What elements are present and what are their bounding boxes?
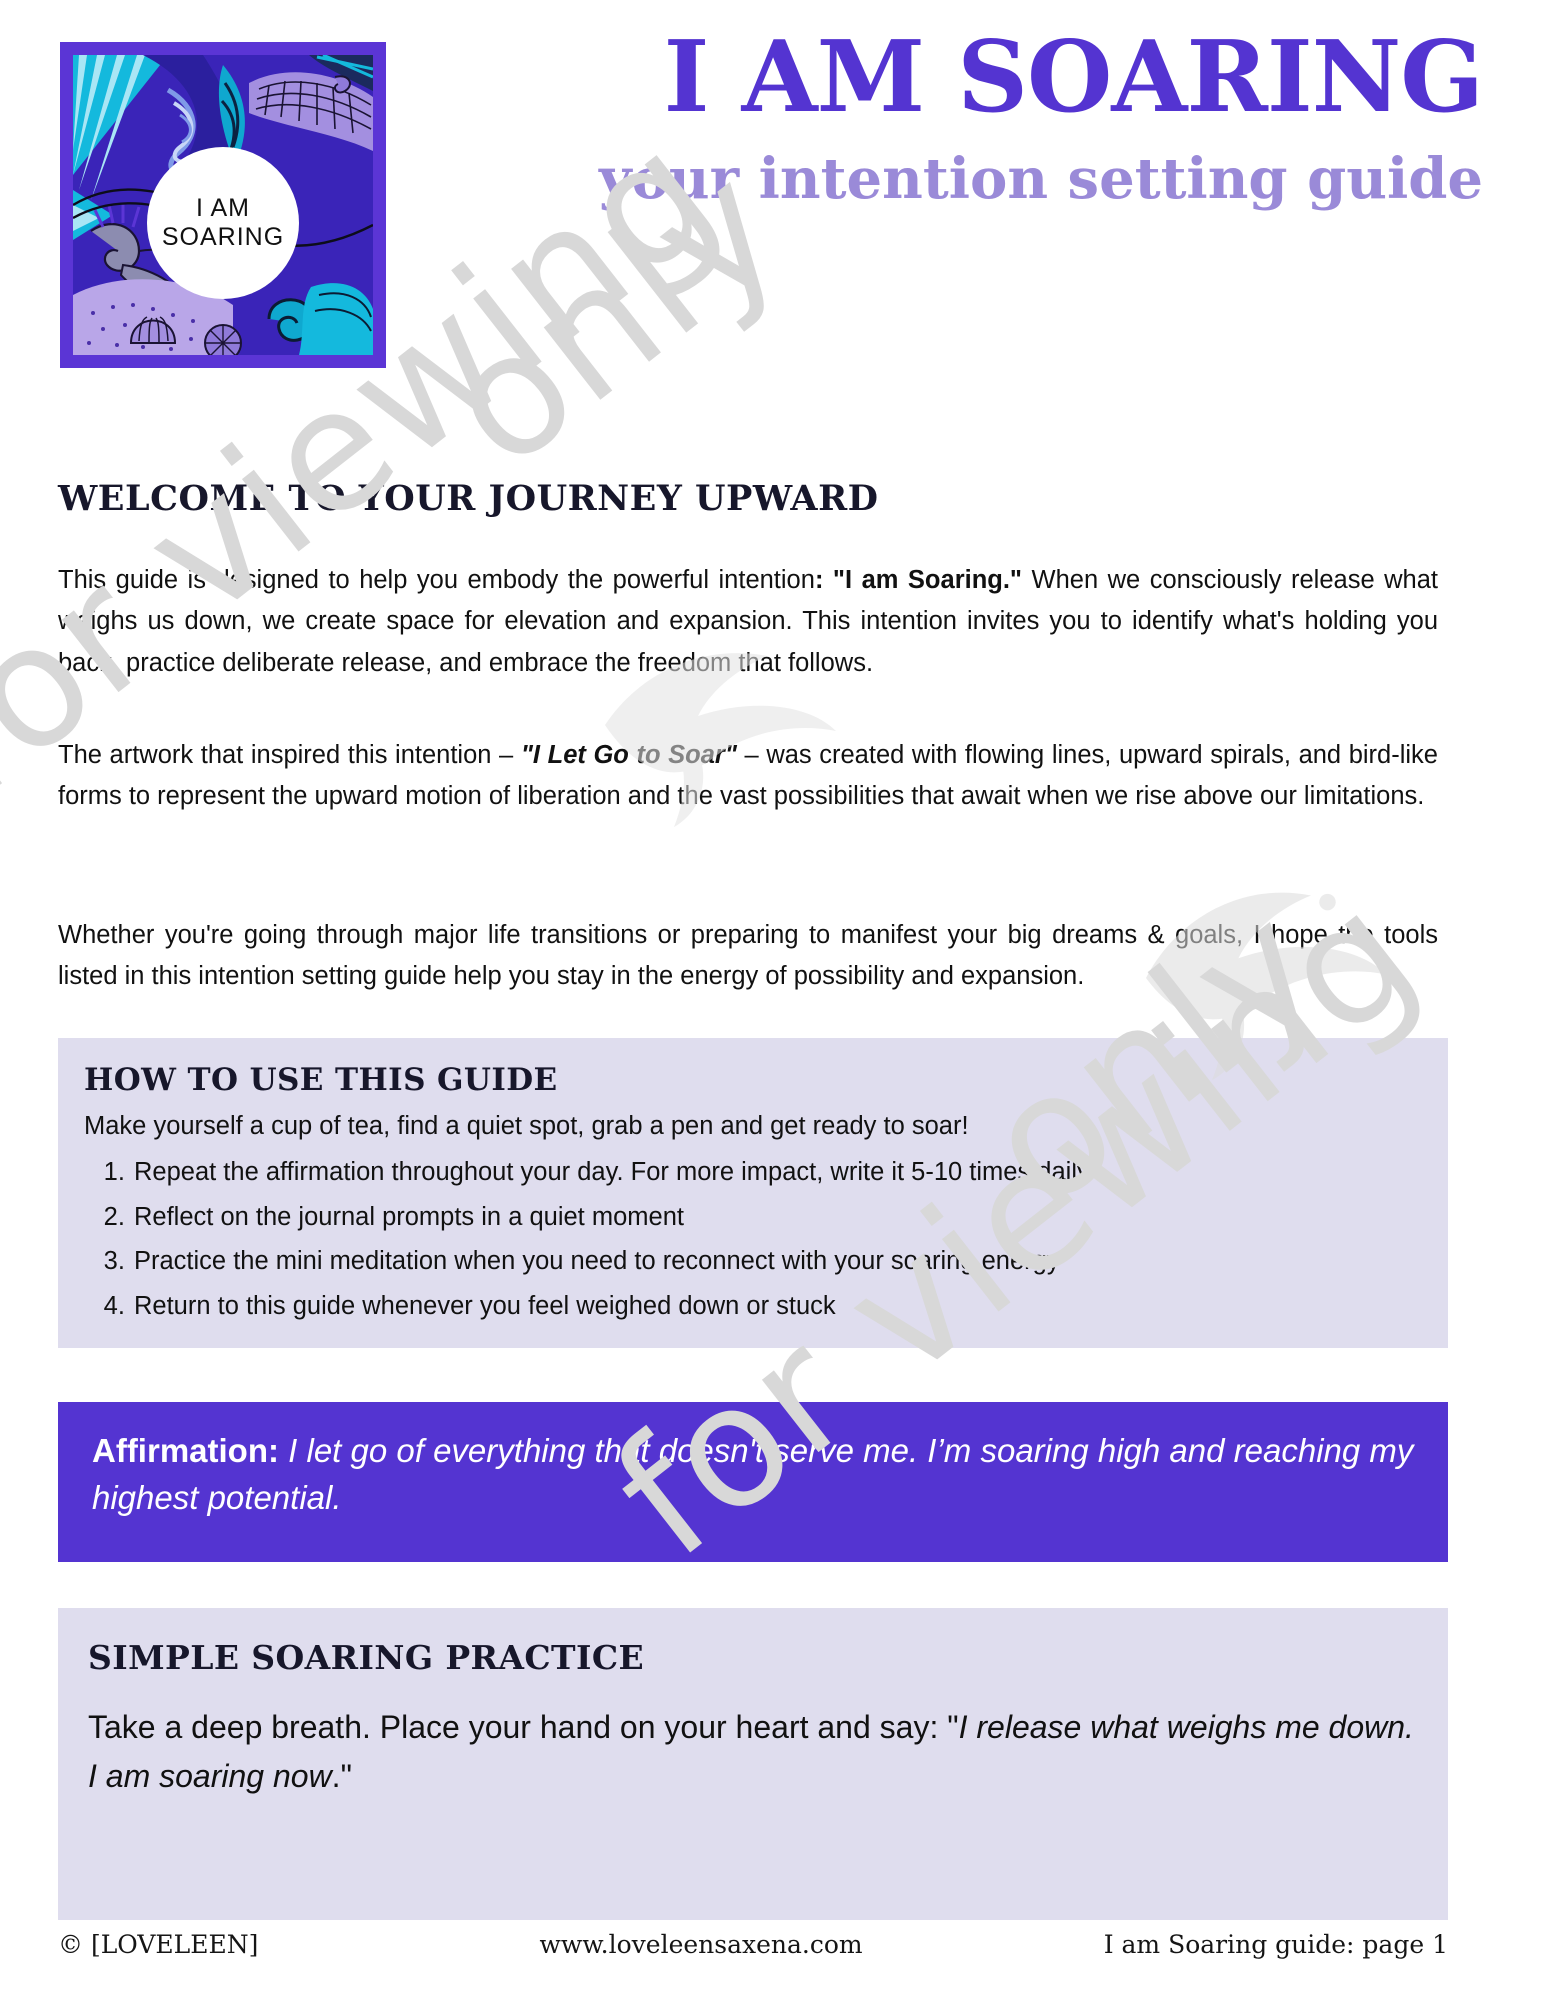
how-to-use-intro: Make yourself a cup of tea, find a quiet… — [84, 1108, 1422, 1145]
para1-intention-bold: : "I am Soaring." — [815, 566, 1022, 594]
how-to-use-list: Repeat the affirmation throughout your d… — [84, 1153, 1422, 1326]
page-subtitle: your intention setting guide — [493, 148, 1483, 211]
practice-heading: SIMPLE SOARING PRACTICE — [88, 1638, 1418, 1677]
para2-part-a: The artwork that inspired this intention… — [58, 741, 521, 769]
page-title: I AM SOARING — [493, 28, 1483, 128]
affirmation-text: Affirmation: I let go of everything that… — [92, 1428, 1414, 1522]
practice-part-c: ." — [332, 1758, 352, 1794]
affirmation-box: Affirmation: I let go of everything that… — [58, 1402, 1448, 1562]
page-footer: © [LOVELEEN] www.loveleensaxena.com I am… — [58, 1930, 1448, 1959]
intro-paragraph-3: Whether you're going through major life … — [58, 915, 1438, 998]
list-item: Practice the mini meditation when you ne… — [132, 1242, 1422, 1281]
practice-text: Take a deep breath. Place your hand on y… — [88, 1703, 1418, 1800]
artwork-badge-line-1: I AM — [196, 194, 250, 224]
affirmation-quote: I let go of everything that doesn't serv… — [92, 1432, 1413, 1516]
document-page: I AM SOARING I AM SOARING your intention… — [0, 0, 1545, 2000]
footer-page-label: I am Soaring guide: page 1 — [1104, 1930, 1448, 1959]
practice-part-a: Take a deep breath. Place your hand on y… — [88, 1709, 959, 1745]
artwork-badge: I AM SOARING — [147, 147, 299, 299]
affirmation-label: Affirmation: — [92, 1432, 279, 1469]
artwork-illustration: I AM SOARING — [73, 55, 373, 355]
list-item: Reflect on the journal prompts in a quie… — [132, 1198, 1422, 1237]
para1-part-a: This guide is designed to help you embod… — [58, 566, 815, 594]
welcome-heading: WELCOME TO YOUR JOURNEY UPWARD — [58, 478, 879, 519]
artwork-title-italic: "I Let Go to Soar" — [521, 741, 737, 769]
artwork-thumbnail: I AM SOARING — [60, 42, 386, 368]
intro-paragraph-2: The artwork that inspired this intention… — [58, 735, 1438, 818]
how-to-use-heading: HOW TO USE THIS GUIDE — [84, 1062, 1422, 1098]
intro-paragraph-1: This guide is designed to help you embod… — [58, 560, 1438, 684]
document-header: I AM SOARING I AM SOARING your intention… — [0, 0, 1545, 470]
artwork-badge-line-2: SOARING — [162, 223, 284, 253]
title-block: I AM SOARING your intention setting guid… — [493, 28, 1483, 211]
how-to-use-box: HOW TO USE THIS GUIDE Make yourself a cu… — [58, 1038, 1448, 1348]
footer-website[interactable]: www.loveleensaxena.com — [539, 1930, 862, 1959]
footer-copyright: © [LOVELEEN] — [58, 1930, 258, 1959]
list-item: Repeat the affirmation throughout your d… — [132, 1153, 1422, 1192]
simple-soaring-practice-box: SIMPLE SOARING PRACTICE Take a deep brea… — [58, 1608, 1448, 1920]
list-item: Return to this guide whenever you feel w… — [132, 1287, 1422, 1326]
